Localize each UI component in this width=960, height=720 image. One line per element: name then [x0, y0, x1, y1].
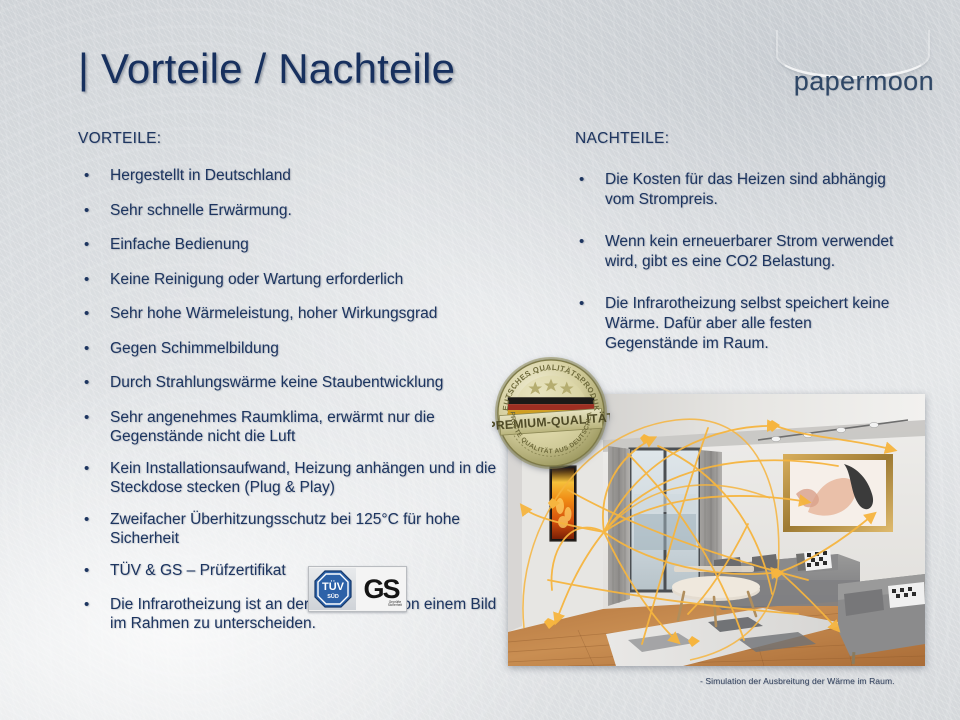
list-item-label: Keine Reinigung oder Wartung erforderlic… [110, 270, 514, 289]
tuv-label: TÜV [322, 580, 345, 593]
list-item: •Sehr angenehmes Raumklima, erwärmt nur … [84, 408, 514, 446]
bullet-icon: • [84, 201, 94, 220]
bullet-icon: • [84, 339, 94, 358]
list-item-label: Durch Strahlungswärme keine Staubentwick… [110, 373, 514, 392]
premium-quality-seal: PREMIUM-QUALITÄT · DEUTSCHES QUALITÄTSPR… [492, 354, 610, 472]
bullet-icon: • [84, 373, 94, 392]
tuv-gs-certificate-badge: TÜV SÜD GS Geprüfte Sicherheit [308, 566, 407, 612]
list-item-label: Die Infrarotheizung selbst speichert kei… [605, 294, 909, 354]
photo-caption: - Simulation der Ausbreitung der Wärme i… [700, 676, 895, 686]
list-item-label: Gegen Schimmelbildung [110, 339, 514, 358]
list-item: •Die Infrarotheizung ist an der Wand nic… [84, 595, 514, 633]
cons-heading: NACHTEILE: [575, 130, 669, 148]
cons-list: •Die Kosten für das Heizen sind abhängig… [579, 170, 909, 376]
list-item: •Sehr hohe Wärmeleistung, hoher Wirkungs… [84, 304, 514, 323]
brand-logo: papermoon [764, 48, 934, 108]
list-item-label: Kein Installationsaufwand, Heizung anhän… [110, 459, 514, 497]
list-item-label: Einfache Bedienung [110, 235, 514, 254]
list-item: •Durch Strahlungswärme keine Staubentwic… [84, 373, 514, 392]
list-item-label: Sehr angenehmes Raumklima, erwärmt nur d… [110, 408, 514, 446]
gs-label: GS [363, 576, 398, 603]
list-item: •Kein Installationsaufwand, Heizung anhä… [84, 459, 514, 497]
bullet-icon: • [84, 595, 94, 614]
bullet-icon: • [84, 166, 94, 185]
bullet-icon: • [579, 294, 589, 314]
bullet-icon: • [84, 510, 94, 529]
pros-heading: VORTEILE: [78, 130, 161, 148]
list-item: •Einfache Bedienung [84, 235, 514, 254]
list-item: •TÜV & GS – Prüfzertifikat [84, 561, 514, 580]
bullet-icon: • [84, 304, 94, 323]
bullet-icon: • [84, 408, 94, 427]
list-item-label: Die Kosten für das Heizen sind abhängig … [605, 170, 909, 210]
list-item-label: Wenn kein erneuerbarer Strom verwendet w… [605, 232, 909, 272]
list-item: •Die Infrarotheizung selbst speichert ke… [579, 294, 909, 354]
list-item: •Die Kosten für das Heizen sind abhängig… [579, 170, 909, 210]
bullet-icon: • [579, 170, 589, 190]
bullet-icon: • [84, 459, 94, 478]
pros-list: •Hergestellt in Deutschland •Sehr schnel… [84, 166, 514, 646]
tuv-sub-label: SÜD [327, 593, 339, 600]
list-item-label: Sehr hohe Wärmeleistung, hoher Wirkungsg… [110, 304, 514, 323]
list-item-label: Sehr schnelle Erwärmung. [110, 201, 514, 220]
bullet-icon: • [84, 561, 94, 580]
seal-graphic: PREMIUM-QUALITÄT · DEUTSCHES QUALITÄTSPR… [492, 354, 610, 472]
list-item: •Sehr schnelle Erwärmung. [84, 201, 514, 220]
bullet-icon: • [84, 235, 94, 254]
slide-canvas: | Vorteile / Nachteile papermoon VORTEIL… [0, 0, 960, 720]
bullet-icon: • [579, 232, 589, 252]
tuv-icon: TÜV SÜD [309, 568, 356, 610]
list-item: •Hergestellt in Deutschland [84, 166, 514, 185]
gs-sub-label: Geprüfte Sicherheit [388, 601, 402, 608]
bullet-icon: • [84, 270, 94, 289]
list-item: •Gegen Schimmelbildung [84, 339, 514, 358]
list-item: •Zweifacher Überhitzungsschutz bei 125°C… [84, 510, 514, 548]
gs-icon: GS Geprüfte Sicherheit [356, 568, 406, 610]
list-item: •Keine Reinigung oder Wartung erforderli… [84, 270, 514, 289]
page-title: | Vorteile / Nachteile [78, 45, 455, 93]
list-item-label: Hergestellt in Deutschland [110, 166, 514, 185]
list-item: •Wenn kein erneuerbarer Strom verwendet … [579, 232, 909, 272]
brand-wordmark: papermoon [794, 66, 934, 97]
list-item-label: Zweifacher Überhitzungsschutz bei 125°C … [110, 510, 514, 548]
